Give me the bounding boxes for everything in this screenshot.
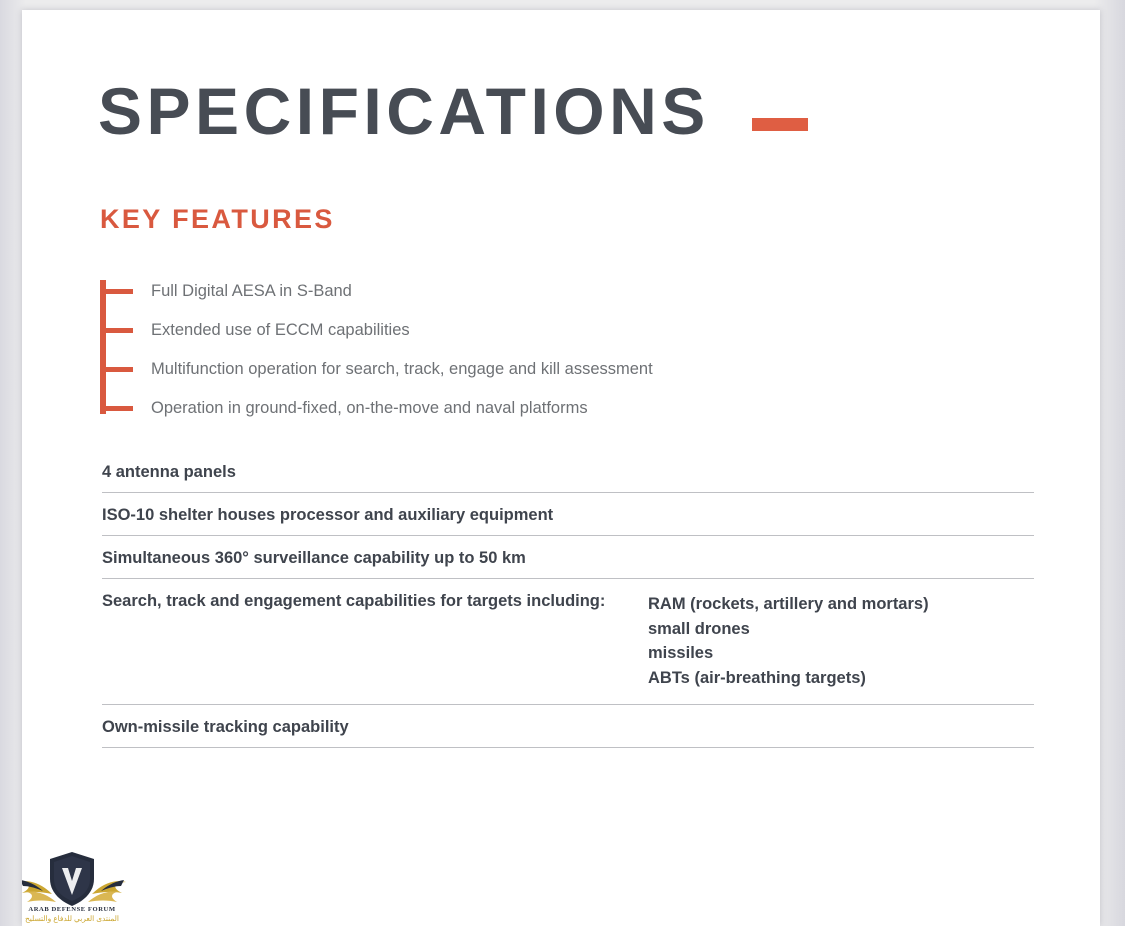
specifications-table: 4 antenna panels ISO-10 shelter houses p… (102, 450, 1034, 748)
bracket-tick-icon (100, 367, 133, 372)
slide-page: SPECIFICATIONS KEY FEATURES Full Digital… (22, 10, 1100, 926)
title-row: SPECIFICATIONS (98, 78, 808, 144)
table-row: Search, track and engagement capabilitie… (102, 579, 1034, 705)
bracket-tick-icon (100, 406, 133, 411)
spec-label: 4 antenna panels (102, 463, 236, 482)
key-features-list: Full Digital AESA in S-Band Extended use… (100, 272, 1000, 428)
spec-label: Own-missile tracking capability (102, 718, 349, 737)
spec-value: ABTs (air-breathing targets) (648, 666, 1034, 691)
watermark-name: ARAB DEFENSE FORUM (22, 906, 130, 913)
spec-value: missiles (648, 641, 1034, 666)
section-heading-key-features: KEY FEATURES (100, 204, 335, 235)
spec-label: Simultaneous 360° surveillance capabilit… (102, 549, 526, 568)
feature-text: Operation in ground-fixed, on-the-move a… (151, 399, 588, 418)
list-item: Extended use of ECCM capabilities (100, 311, 1000, 350)
title-accent-dash (752, 118, 808, 131)
feature-text: Multifunction operation for search, trac… (151, 360, 653, 379)
list-item: Full Digital AESA in S-Band (100, 272, 1000, 311)
watermark-arabic-text: المنتدى العربي للدفاع والتسليح (22, 914, 130, 923)
bracket-tick-icon (100, 328, 133, 333)
feature-text: Full Digital AESA in S-Band (151, 282, 352, 301)
table-row: Simultaneous 360° surveillance capabilit… (102, 536, 1034, 579)
spec-label: Search, track and engagement capabilitie… (102, 592, 648, 611)
watermark-logo: ARAB DEFENSE FORUM المنتدى العربي للدفاع… (22, 846, 130, 924)
spec-value: RAM (rockets, artillery and mortars) (648, 592, 1034, 617)
list-item: Operation in ground-fixed, on-the-move a… (100, 389, 1000, 428)
table-row: ISO-10 shelter houses processor and auxi… (102, 493, 1034, 536)
spec-value: small drones (648, 617, 1034, 642)
page-title: SPECIFICATIONS (98, 78, 710, 144)
table-row: 4 antenna panels (102, 450, 1034, 493)
spec-value-list: RAM (rockets, artillery and mortars) sma… (648, 592, 1034, 690)
list-item: Multifunction operation for search, trac… (100, 350, 1000, 389)
table-row: Own-missile tracking capability (102, 705, 1034, 748)
bracket-tick-icon (100, 289, 133, 294)
spec-label: ISO-10 shelter houses processor and auxi… (102, 506, 553, 525)
feature-text: Extended use of ECCM capabilities (151, 321, 410, 340)
